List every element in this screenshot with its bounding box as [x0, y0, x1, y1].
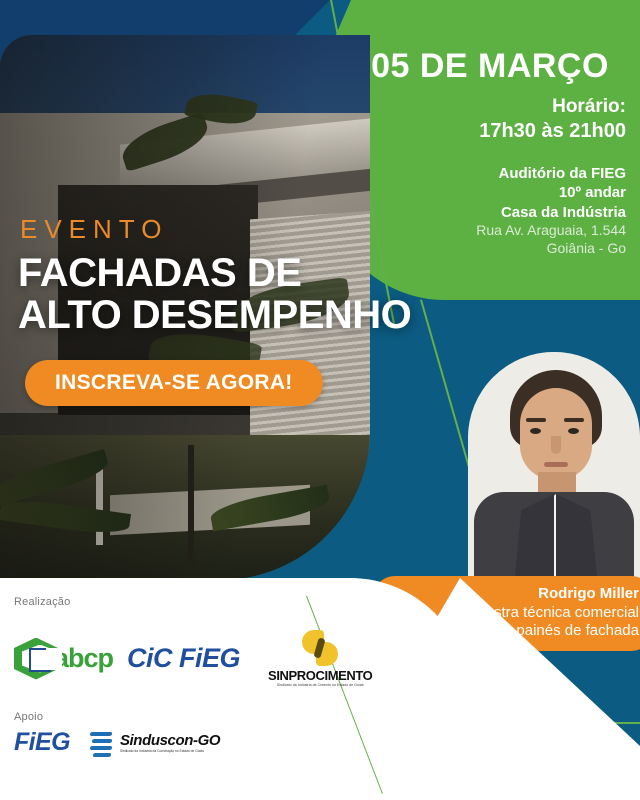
speaker-portrait: [468, 352, 640, 607]
logo-fieg: FiEG: [14, 728, 70, 757]
event-flyer: 05 DE MARÇO Horário: 17h30 às 21h00 Audi…: [0, 0, 640, 800]
headline: FACHADAS DE ALTO DESEMPENHO: [18, 252, 438, 337]
speaker-name: Rodrigo Miller: [387, 584, 639, 604]
logo-sinduscon-go: Sinduscon-GO Sindicato da Indústria da C…: [88, 729, 220, 757]
realizacao-label: Realização: [14, 596, 70, 608]
register-button[interactable]: INSCREVA-SE AGORA!: [25, 360, 323, 406]
sinduscon-blue-s-icon: [88, 729, 114, 757]
apoio-label: Apoio: [14, 711, 43, 723]
apoio-logos: FiEG Sinduscon-GO Sindicato da Indústria…: [14, 728, 220, 757]
time-label: Horário:: [366, 95, 626, 119]
portrait-nose: [551, 436, 561, 454]
event-date: 05 DE MARÇO: [352, 47, 628, 86]
address-line-1: Rua Av. Araguaia, 1.544: [366, 222, 626, 240]
venue-line-3: Casa da Indústria: [366, 203, 626, 223]
sinprocimento-gold-s-icon: [302, 630, 338, 666]
sinduscon-wordmark: Sinduscon-GO: [120, 732, 220, 749]
event-details: Horário: 17h30 às 21h00 Auditório da FIE…: [366, 95, 626, 257]
abcp-wordmark: abcp: [54, 643, 113, 674]
portrait-brow-right: [564, 418, 584, 422]
realizacao-logos: abcp CiC FiEG SINPROCIMENTO Sindicato da…: [14, 630, 372, 687]
portrait-mouth: [544, 462, 568, 467]
sinprocimento-tagline: Sindicato da Indústria de Cimento no Est…: [277, 683, 364, 687]
headline-line-1: FACHADAS DE: [18, 252, 438, 294]
sinprocimento-wordmark: SINPROCIMENTO: [268, 668, 372, 683]
abcp-hexagon-cube-icon: [14, 638, 58, 680]
venue-line-1: Auditório da FIEG: [366, 164, 626, 184]
headline-line-2: ALTO DESEMPENHO: [18, 294, 438, 336]
sinduscon-tagline: Sindicato da Indústria da Construção no …: [120, 749, 220, 753]
portrait-brow-left: [526, 418, 546, 422]
portrait-eye-right: [568, 428, 579, 434]
portrait-eye-left: [530, 428, 541, 434]
logo-abcp: abcp: [14, 638, 113, 680]
logo-cic-fieg: CiC FiEG: [127, 643, 240, 674]
logo-sinprocimento: SINPROCIMENTO Sindicato da Indústria de …: [268, 630, 372, 687]
kicker-evento: EVENTO: [20, 216, 168, 242]
time-value: 17h30 às 21h00: [366, 119, 626, 144]
venue-line-2: 10º andar: [366, 183, 626, 203]
